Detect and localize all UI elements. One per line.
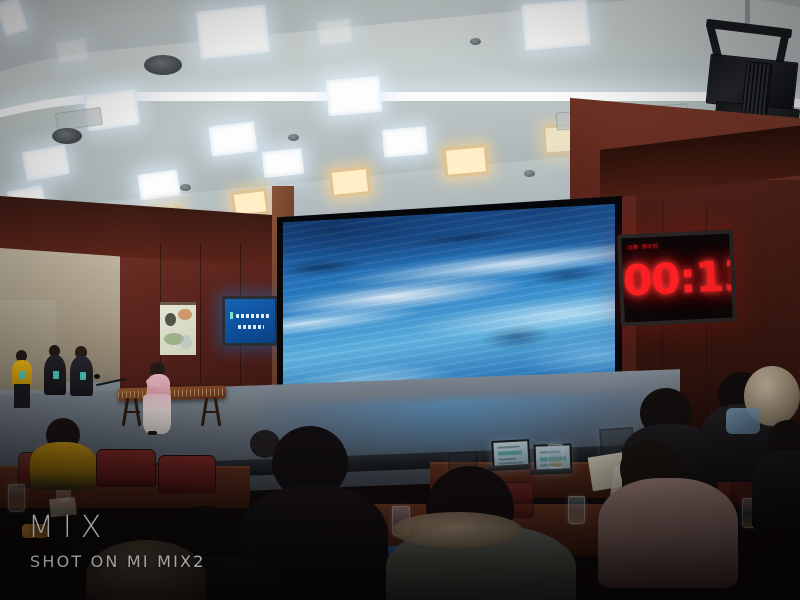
laptop-doc-line	[498, 458, 516, 460]
watermark-tagline: SHOT ON MI MIX2	[30, 552, 206, 571]
scroll-ink-blot	[180, 335, 192, 349]
auditorium-chair	[158, 455, 216, 493]
smoke-detector-icon	[288, 134, 299, 141]
smoke-detector-icon	[470, 38, 481, 45]
side-monitor-text-line	[238, 325, 264, 329]
ceiling-panel-light	[137, 169, 180, 200]
wall-panel-seam	[200, 244, 201, 384]
hanging-scroll-painting	[160, 302, 196, 355]
staff-badge	[20, 371, 26, 379]
timer-label: 比赛 倒计时	[627, 243, 658, 251]
laptop-doc-accent	[498, 450, 522, 455]
staff-trousers	[14, 384, 30, 408]
photograph: 比赛 倒计时 00:13	[0, 0, 800, 600]
scroll-ink-blot	[178, 309, 192, 320]
side-monitor-text-line	[236, 314, 269, 318]
scarf-blue	[726, 408, 760, 434]
guzheng-stand-brace	[126, 411, 140, 413]
ceiling-panel-light	[382, 126, 428, 158]
guzheng-stand-brace	[205, 411, 219, 413]
ceiling-exhaust-fan	[144, 55, 182, 75]
audience-head	[250, 430, 280, 458]
ceiling-warm-light	[329, 166, 372, 198]
ceiling-panel-light	[317, 18, 353, 45]
ceiling-panel-light	[208, 121, 257, 156]
guzheng-strings	[118, 389, 226, 399]
ceiling-panel-light	[55, 38, 88, 64]
audience-body	[752, 450, 800, 530]
ceiling-panel-light	[521, 0, 591, 51]
performer-dress	[143, 394, 171, 434]
smoke-detector-icon	[524, 170, 535, 177]
watermark-brand: MIX	[28, 510, 110, 545]
side-monitor-bullet	[230, 312, 233, 319]
stage-countdown-timer: 比赛 倒计时 00:13	[617, 229, 737, 326]
water-glass	[8, 484, 25, 512]
water-glass	[548, 444, 563, 468]
side-monitor	[222, 296, 278, 346]
staff-badge	[53, 371, 59, 379]
staff-badge	[80, 372, 86, 380]
ceiling-warm-light	[443, 144, 489, 178]
performer-shoe	[148, 431, 157, 435]
ceiling-panel-light	[326, 76, 383, 117]
microphone-head-icon	[94, 374, 100, 379]
auditorium-chair	[96, 449, 156, 487]
fur-collar	[392, 512, 522, 548]
ceiling-panel-light	[262, 148, 304, 178]
audience-body	[30, 442, 96, 490]
ceiling-exhaust-fan	[52, 128, 82, 144]
laptop-doc-line	[498, 446, 520, 449]
audience-coat-beige	[598, 478, 738, 588]
ceiling-panel-light	[196, 4, 271, 59]
timer-value: 00:13	[622, 256, 732, 303]
smoke-detector-icon	[180, 184, 191, 191]
water-glass	[568, 496, 585, 524]
scroll-ink-blot	[165, 313, 176, 326]
